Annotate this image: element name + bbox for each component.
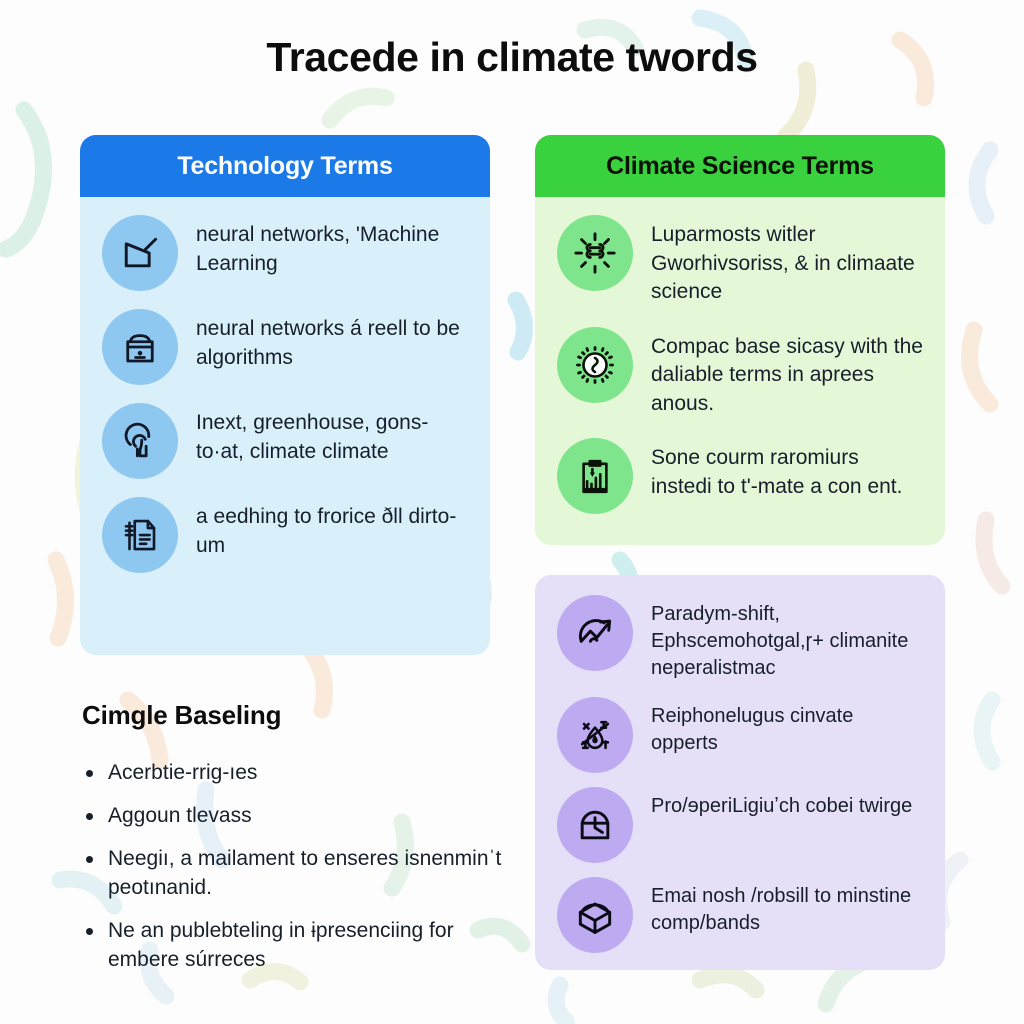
list-item[interactable]: Inext, greenhouse, gons-to·at, climate c… xyxy=(102,403,470,479)
list-item-label: neural networks, 'Machine Learning xyxy=(196,215,470,278)
notes-bullet-list: Acerbtie-rrig-ıes Aggoun tlevass Neegiı,… xyxy=(82,759,502,975)
list-item-label: Inext, greenhouse, gons-to·at, climate c… xyxy=(196,403,470,466)
list-item[interactable]: Sone courm raromiurs instedi to t'-mate … xyxy=(557,438,925,514)
list-item-label: Pro/ɘperiLigiuʼch cobei twirge xyxy=(651,787,912,820)
molecule-rays-icon xyxy=(557,215,633,291)
cube-box-icon xyxy=(557,877,633,953)
technology-terms-body: neural networks, 'Machine Learning neura… xyxy=(80,197,490,593)
sun-dial-icon xyxy=(557,327,633,403)
list-item-label: Compac base sicasy with the daliable ter… xyxy=(651,327,925,419)
list-item[interactable]: Compac base sicasy with the daliable ter… xyxy=(557,327,925,419)
document-lines-icon xyxy=(102,497,178,573)
fingerprint-touch-icon xyxy=(102,403,178,479)
list-item-label: Paradym-shift, Ephscemohotgal,ɼ+ climani… xyxy=(651,595,925,683)
list-item: Ne an publebteling in ɨpresenciing for e… xyxy=(82,917,502,975)
television-icon xyxy=(102,215,178,291)
list-item: Neegiı, a mailament to enseres isnenminˈ… xyxy=(82,845,502,903)
list-item[interactable]: Paradym-shift, Ephscemohotgal,ɼ+ climani… xyxy=(557,595,925,683)
list-item[interactable]: neural networks, 'Machine Learning xyxy=(102,215,470,291)
list-item-label: Emai nosh /robsill to minstine comp/band… xyxy=(651,877,925,937)
climate-science-terms-header: Climate Science Terms xyxy=(535,135,945,197)
list-item: Acerbtie-rrig-ıes xyxy=(82,759,502,788)
list-item-label: a eedhing to frorice ðll dirto-um xyxy=(196,497,470,560)
climate-science-terms-body: Luparmosts witler Gworhivsoriss, & in cl… xyxy=(535,197,945,545)
infographic-page: Tracede in climate twords Technology Ter… xyxy=(0,0,1024,1024)
list-item[interactable]: a eedhing to frorice ðll dirto-um xyxy=(102,497,470,573)
trending-up-arrow-icon xyxy=(557,595,633,671)
list-item-label: Luparmosts witler Gworhivsoriss, & in cl… xyxy=(651,215,925,307)
clipboard-chart-icon xyxy=(557,438,633,514)
notes-heading: Cimgle Baseling xyxy=(82,700,502,731)
clock-arch-icon xyxy=(557,787,633,863)
list-item[interactable]: neural networks á reell to be algorithms xyxy=(102,309,470,385)
water-drop-icon xyxy=(557,697,633,773)
archive-box-icon xyxy=(102,309,178,385)
list-item[interactable]: Pro/ɘperiLigiuʼch cobei twirge xyxy=(557,787,925,863)
additional-terms-card: Paradym-shift, Ephscemohotgal,ɼ+ climani… xyxy=(535,575,945,970)
list-item[interactable]: Emai nosh /robsill to minstine comp/band… xyxy=(557,877,925,953)
additional-terms-body: Paradym-shift, Ephscemohotgal,ɼ+ climani… xyxy=(535,575,945,970)
list-item-label: Reiphonelugus cinvate opperts xyxy=(651,697,925,757)
list-item[interactable]: Reiphonelugus cinvate opperts xyxy=(557,697,925,773)
list-item-label: Sone courm raromiurs instedi to t'-mate … xyxy=(651,438,925,501)
technology-terms-header: Technology Terms xyxy=(80,135,490,197)
list-item: Aggoun tlevass xyxy=(82,802,502,831)
list-item[interactable]: Luparmosts witler Gworhivsoriss, & in cl… xyxy=(557,215,925,307)
climate-science-terms-card: Climate Science Terms Luparmosts witler … xyxy=(535,135,945,545)
notes-section: Cimgle Baseling Acerbtie-rrig-ıes Aggoun… xyxy=(82,700,502,989)
page-title: Tracede in climate twords xyxy=(0,34,1024,81)
list-item-label: neural networks á reell to be algorithms xyxy=(196,309,470,372)
technology-terms-card: Technology Terms neural networks, 'Machi… xyxy=(80,135,490,655)
